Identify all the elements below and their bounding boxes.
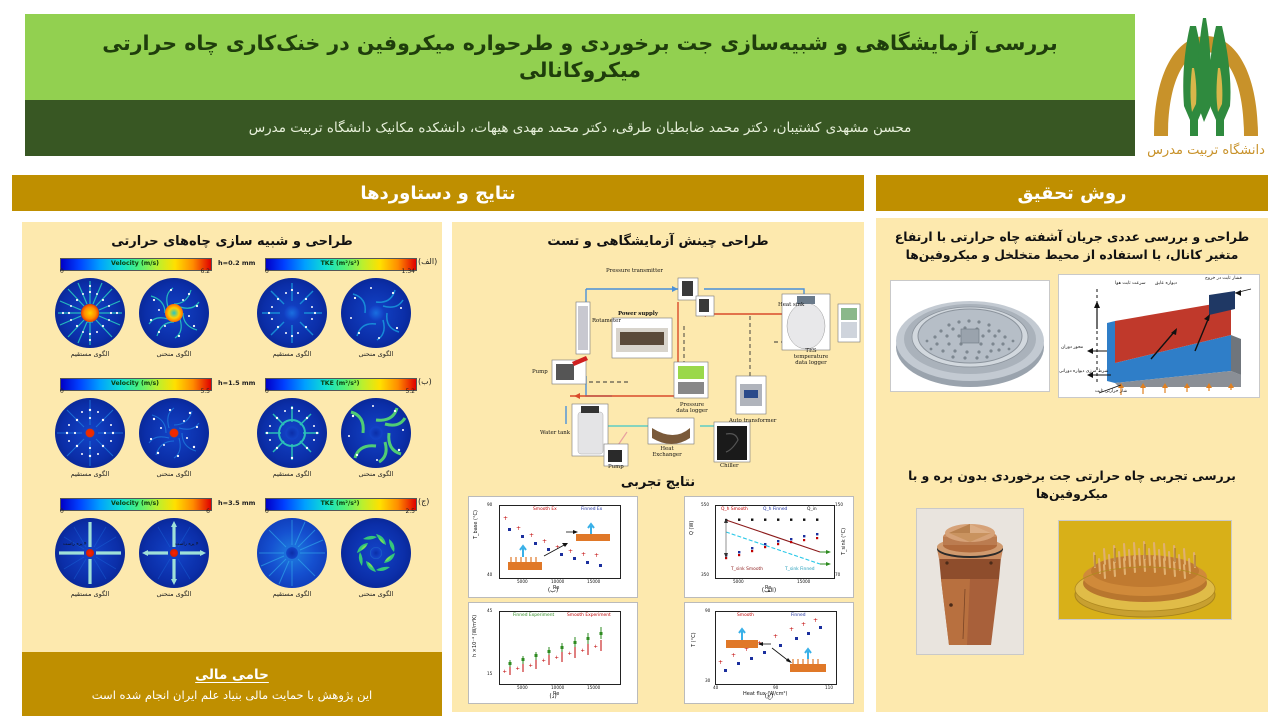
height-label-3: h=3.5 mm [218, 499, 255, 507]
authors-band: محسن مشهدی کشتیبان، دکتر محمد ضابطیان طر… [25, 100, 1135, 156]
chart-be-ylabel: T_base (°C) [473, 510, 479, 539]
poster-header: بررسی آزمایشگاهی و شبیه‌سازی جت برخوردی … [0, 0, 1280, 165]
chart-jim-ylabel: T (°C) [691, 632, 697, 647]
contour-label-2c: الگوی مستقیم [254, 470, 330, 478]
velocity-colorbar-1-title: Velocity (m/s) [60, 258, 210, 269]
section-bar-results-label: نتایج و دستاوردها [360, 183, 515, 204]
diagram-label-constant-heat-flux: شار حرارتی ثابت [1095, 389, 1127, 394]
chart-alef-ytick-max: 550 [701, 502, 709, 507]
chart-jim-series: +++ +++ ++ [716, 612, 836, 684]
chart-be-xtick-2: 10000 [551, 579, 564, 584]
chart-alef-y2tick-max: 150 [835, 502, 843, 507]
experimental-setup-schematic: Pressure transmitter Rotameter Power sup… [452, 256, 864, 471]
poster-root: بررسی آزمایشگاهی و شبیه‌سازی جت برخوردی … [0, 0, 1280, 720]
cfd-row-h35: Velocity (m/s) 0 6 h=3.5 mm TKE (m²/s²) … [22, 496, 442, 616]
cfd-row-h15: Velocity (m/s) 0 5.5 h=1.5 mm TKE (m²/s²… [22, 376, 442, 496]
svg-text:+: + [789, 626, 794, 633]
svg-text:+: + [554, 655, 559, 661]
micro-fin-array [1059, 521, 1231, 619]
schematic-label-water-tank: Water tank [540, 430, 570, 436]
svg-text:+: + [568, 548, 573, 555]
logo-icon: دانشگاه تربیت مدرس [1140, 8, 1272, 160]
contour-label-3d: الگوی منحنی [338, 590, 414, 598]
chart-alef-legend-4: T_sink Smooth [731, 567, 763, 572]
chart-be-legend-1: Smooth Ex [533, 507, 557, 512]
chart-dal-legend-1: Finned Experiment [513, 613, 554, 618]
chart-alef-legend-2: Q_h Finned [763, 507, 787, 512]
chart-dal-caption: (د) [469, 693, 637, 700]
colorbar-row-1: Velocity (m/s) 0 6.2 h=0.2 mm TKE (m²/s²… [22, 256, 442, 278]
chart-be-caption: (ب) [469, 587, 637, 594]
title-band: بررسی آزمایشگاهی و شبیه‌سازی جت برخوردی … [25, 14, 1135, 100]
contour-label-3c: الگوی مستقیم [254, 590, 330, 598]
chart-dal-ylabel: h ×10⁻⁴ (W/m²K) [472, 615, 478, 657]
svg-text:+: + [541, 658, 546, 664]
svg-text:+: + [718, 659, 723, 666]
chart-alef-caption: (الف) [685, 587, 853, 594]
svg-text:+: + [503, 515, 508, 522]
colorbar-row-2: Velocity (m/s) 0 5.5 h=1.5 mm TKE (m²/s²… [22, 376, 442, 398]
row-tag-1: (الف) [418, 257, 437, 266]
velocity-colorbar-2-title: Velocity (m/s) [60, 378, 210, 389]
tke-colorbar-3-max: 2.5 [405, 508, 415, 515]
svg-text:+: + [542, 538, 547, 545]
svg-text:+: + [528, 663, 533, 669]
svg-text:+: + [731, 652, 736, 659]
row-tag-2: (ب) [418, 377, 432, 386]
method-heading-numerical: طراحی و بررسی عددی جریان آشفته چاه حرارت… [876, 218, 1268, 269]
section-bar-method: روش تحقیق [876, 175, 1268, 211]
tke-colorbar-1-min: 0 [265, 268, 269, 275]
tke-colorbar-2-min: 0 [265, 388, 269, 395]
chart-alef-xtick-3: 15000 [797, 579, 810, 584]
velocity-colorbar-2-min: 0 [60, 388, 64, 395]
chart-alef-y2tick-min: 70 [835, 572, 840, 577]
schematic-label-pump-secondary: Pump [608, 464, 624, 470]
height-label-1: h=0.2 mm [218, 259, 255, 267]
chart-be: +++ +++ ++ [468, 496, 638, 598]
velocity-colorbar-3-max: 6 [206, 508, 210, 515]
copper-heat-sink-assembly [917, 509, 1023, 654]
svg-text:+: + [516, 525, 521, 532]
page-title: بررسی آزمایشگاهی و شبیه‌سازی جت برخوردی … [25, 30, 1135, 84]
chart-alef-legend-1: Q_h Smooth [721, 507, 748, 512]
contour-label-2b: الگوی منحنی [136, 470, 212, 478]
velocity-colorbar-3-title: Velocity (m/s) [60, 498, 210, 509]
chart-alef-y2label: T_sink (°C) [841, 528, 847, 555]
schematic-label-pump-main: Pump [532, 369, 548, 375]
sponsor-title: حامی مالی [195, 667, 269, 683]
university-logo: دانشگاه تربیت مدرس [1140, 8, 1272, 160]
cfd-row-h02: Velocity (m/s) 0 6.2 h=0.2 mm TKE (m²/s²… [22, 256, 442, 376]
chart-alef-xtick-1: 5000 [733, 579, 744, 584]
svg-text:+: + [813, 617, 818, 624]
chart-be-ytick-max: 90 [487, 502, 492, 507]
contour-label-2d: الگوی منحنی [338, 470, 414, 478]
diagram-label-rotating-wall-bc: شرط مرزی دیواره دورانی [1059, 369, 1108, 374]
experimental-setup-heading: طراحی چینش آزمایشگاهی و تست [452, 222, 864, 256]
chart-jim-plot: +++ +++ ++ [715, 611, 837, 685]
blade-annotation-3b: ۴ پره راست [175, 542, 198, 547]
chart-dal-ytick-max: 45 [487, 608, 492, 613]
method-heading-experimental: بررسی تجربی چاه حرارتی جت برخوردی بدون پ… [876, 457, 1268, 508]
chart-dal: +++ +++ ++ h ×10⁻⁴ (W/m²K) Re 45 15 5000… [468, 602, 638, 704]
section-bar-method-label: روش تحقیق [1018, 183, 1127, 204]
contour-label-1a: الگوی مستقیم [52, 350, 128, 358]
chart-be-ytick-min: 40 [487, 572, 492, 577]
heat-sink-cad-render [891, 281, 1049, 391]
chart-be-xtick-1: 5000 [517, 579, 528, 584]
chart-jim-xtick-6: 90 [773, 685, 778, 690]
chart-be-plot: +++ +++ ++ [499, 505, 621, 579]
cfd-domain-diagram [1059, 275, 1259, 397]
row-tag-3: (ج) [418, 497, 429, 506]
schematic-label-heat-sink: Heat sink [778, 302, 804, 308]
chart-dal-xtick-3: 15000 [587, 685, 600, 690]
diagram-label-rotation-axis: محور دوران [1061, 345, 1083, 350]
velocity-colorbar-1-min: 0 [60, 268, 64, 275]
panel-simulation: طراحی و شبیه سازی چاه‌های حرارتی Velocit… [22, 222, 442, 652]
logo-caption: دانشگاه تربیت مدرس [1147, 142, 1265, 158]
cfd-domain-photo: فشار ثابت در خروج سرعت ثابت هوا دیواره ع… [1058, 274, 1260, 398]
tke-colorbar-1-title: TKE (m²/s²) [265, 258, 415, 269]
chart-jim-ytick-max: 90 [705, 608, 710, 613]
svg-text:+: + [567, 651, 572, 657]
experimental-charts-grid: Q (W) T_sink (°C) Re 550 350 150 70 5000… [452, 496, 864, 726]
panel-method: طراحی و بررسی عددی جریان آشفته چاه حرارت… [876, 218, 1268, 712]
chart-jim-xtick-1: 40 [713, 685, 718, 690]
tke-colorbar-2-title: TKE (m²/s²) [265, 378, 415, 389]
tke-colorbar-3-title: TKE (m²/s²) [265, 498, 415, 509]
height-label-2: h=1.5 mm [218, 379, 255, 387]
contour-label-2a: الگوی مستقیم [52, 470, 128, 478]
svg-text:+: + [515, 666, 520, 672]
chart-jim-caption: (ج) [685, 693, 853, 700]
chart-dal-legend-2: Smooth Experiment [567, 613, 611, 618]
section-bar-results: نتایج و دستاوردها [12, 175, 864, 211]
contour-label-1d: الگوی منحنی [338, 350, 414, 358]
chart-be-legend-2: Finned Ex [581, 507, 602, 512]
chart-jim-legend-2: Finned [791, 613, 805, 618]
chart-be-xtick-3: 15000 [587, 579, 600, 584]
chart-jim: +++ +++ ++ [684, 602, 854, 704]
sponsor-box: حامی مالی این پژوهش با حمایت مالی بنیاد … [22, 652, 442, 716]
authors-line: محسن مشهدی کشتیبان، دکتر محمد ضابطیان طر… [231, 120, 930, 136]
chart-jim-legend-1: Smooth [737, 613, 754, 618]
schematic-label-pressure-data-logger: Pressure data logger [674, 402, 710, 414]
svg-text:+: + [801, 621, 806, 628]
velocity-colorbar-2-max: 5.5 [200, 388, 210, 395]
chart-alef-legend-5: T_sink Finned [785, 567, 815, 572]
chart-alef-ytick-min: 350 [701, 572, 709, 577]
velocity-colorbar-3-min: 0 [60, 508, 64, 515]
velocity-colorbar-1-max: 6.2 [200, 268, 210, 275]
chart-jim-xtick-8: 110 [825, 685, 833, 690]
diagram-label-insulated-wall: دیواره عایق [1155, 281, 1177, 286]
copper-assembly-photo [916, 508, 1024, 655]
contour-label-3a: الگوی مستقیم [52, 590, 128, 598]
svg-text:+: + [593, 644, 598, 650]
schematic-label-tes-data-logger: TES temperature data logger [788, 348, 834, 366]
chart-alef: Q (W) T_sink (°C) Re 550 350 150 70 5000… [684, 496, 854, 598]
chart-be-series: +++ +++ ++ [500, 506, 620, 578]
diagram-label-inlet-velocity: سرعت ثابت هوا [1115, 281, 1145, 286]
simulation-heading: طراحی و شبیه سازی چاه‌های حرارتی [22, 222, 442, 256]
tke-colorbar-1-max: 1.34 [402, 268, 415, 275]
svg-text:+: + [581, 551, 586, 558]
micro-fin-array-photo [1058, 520, 1232, 620]
chart-dal-ytick-min: 15 [487, 671, 492, 676]
blade-annotation-3a: ۴ پره راست [63, 542, 86, 547]
schematic-label-auto-transformer: Auto transformer [729, 418, 776, 424]
tke-colorbar-3-min: 0 [265, 508, 269, 515]
sponsor-body: این پژوهش با حمایت مالی بنیاد علم ایران … [92, 688, 372, 702]
chart-dal-series: +++ +++ ++ [500, 612, 620, 684]
schematic-label-power-supply: Power supply [618, 311, 658, 317]
experimental-results-heading: نتایج تجربی [452, 471, 864, 497]
colorbar-row-3: Velocity (m/s) 0 6 h=3.5 mm TKE (m²/s²) … [22, 496, 442, 518]
svg-text:+: + [773, 633, 778, 640]
schematic-label-rotameter: Rotameter [592, 318, 621, 324]
chart-dal-xtick-1: 5000 [517, 685, 528, 690]
svg-text:+: + [529, 532, 534, 539]
chart-alef-legend-3: Q_in [807, 507, 817, 512]
heat-sink-cad-photo [890, 280, 1050, 392]
chart-dal-xtick-2: 10000 [551, 685, 564, 690]
chart-jim-ytick-min: 30 [705, 678, 710, 683]
diagram-label-outlet-pressure: فشار ثابت در خروج [1205, 276, 1242, 281]
contour-label-3b: الگوی منحنی [136, 590, 212, 598]
svg-text:+: + [580, 648, 585, 654]
contour-label-1b: الگوی منحنی [136, 350, 212, 358]
schematic-label-pressure-transmitter: Pressure transmitter [606, 268, 663, 274]
schematic-label-heat-exchanger: Heat Exchanger [652, 446, 682, 458]
schematic-label-chiller: Chiller [720, 463, 739, 469]
chart-dal-plot: +++ +++ ++ [499, 611, 621, 685]
svg-text:+: + [502, 669, 507, 675]
tke-colorbar-2-max: 5.2 [405, 388, 415, 395]
contour-label-1c: الگوی مستقیم [254, 350, 330, 358]
panel-experimental: طراحی چینش آزمایشگاهی و تست [452, 222, 864, 712]
chart-alef-ylabel: Q (W) [689, 521, 695, 535]
svg-text:+: + [594, 552, 599, 559]
